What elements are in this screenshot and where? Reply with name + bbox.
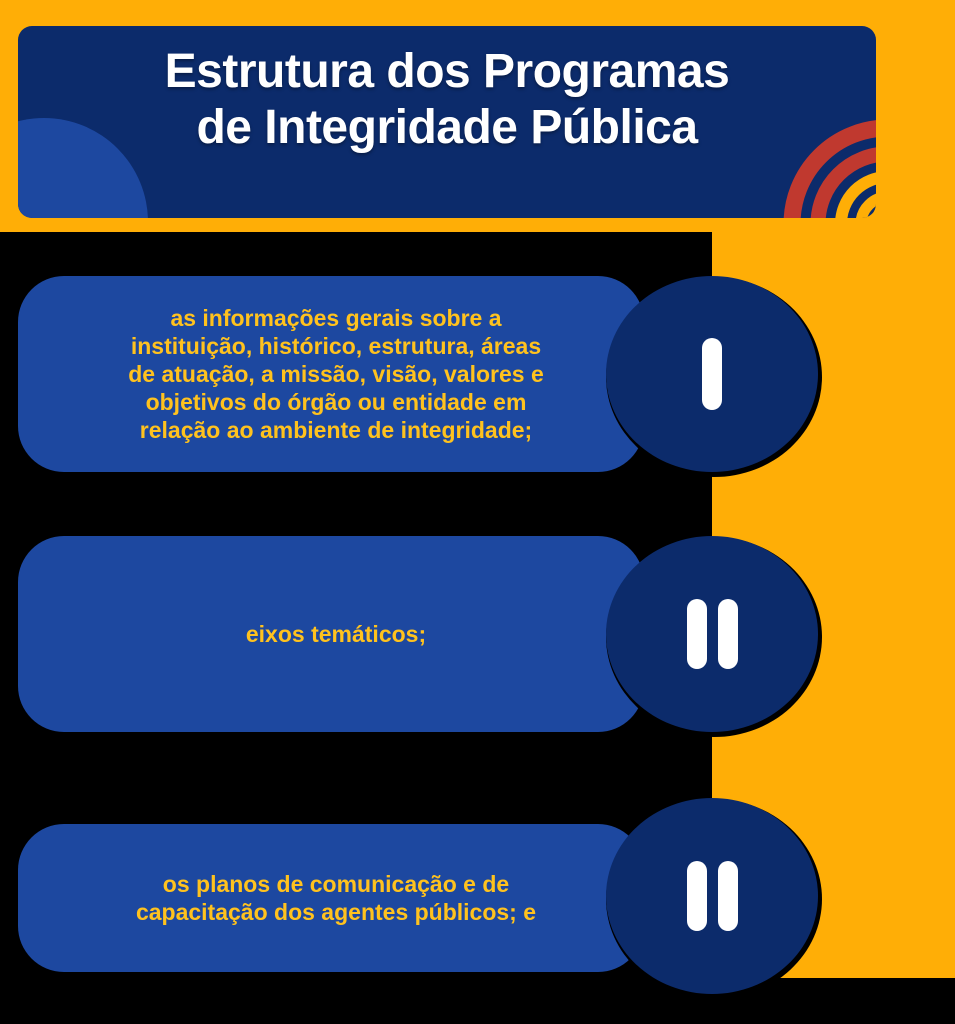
numeral-badge-iii[interactable] bbox=[606, 798, 818, 994]
list-item-text: eixos temáticos; bbox=[54, 620, 618, 648]
roman-numeral-bar-icon bbox=[687, 599, 707, 669]
roman-numeral-bar-icon bbox=[718, 599, 738, 669]
list-item[interactable]: as informações gerais sobre a instituiçã… bbox=[18, 276, 644, 472]
list-item[interactable]: os planos de comunicação e de capacitaçã… bbox=[18, 824, 644, 972]
list-item-text: as informações gerais sobre a instituiçã… bbox=[54, 304, 618, 444]
infographic-root: Estrutura dos Programas de Integridade P… bbox=[0, 0, 955, 1024]
page-title: Estrutura dos Programas de Integridade P… bbox=[18, 44, 876, 155]
roman-numeral-bar-icon bbox=[687, 861, 707, 931]
list-item[interactable]: eixos temáticos; bbox=[18, 536, 644, 732]
list-item-text: os planos de comunicação e de capacitaçã… bbox=[54, 870, 618, 926]
numeral-badge-ii[interactable] bbox=[606, 536, 818, 732]
numeral-badge-i[interactable] bbox=[606, 276, 818, 472]
roman-numeral-bar-icon bbox=[718, 861, 738, 931]
roman-numeral-bar-icon bbox=[702, 338, 722, 410]
black-backdrop-bottom-strip bbox=[0, 978, 955, 1024]
header-banner: Estrutura dos Programas de Integridade P… bbox=[18, 26, 876, 218]
